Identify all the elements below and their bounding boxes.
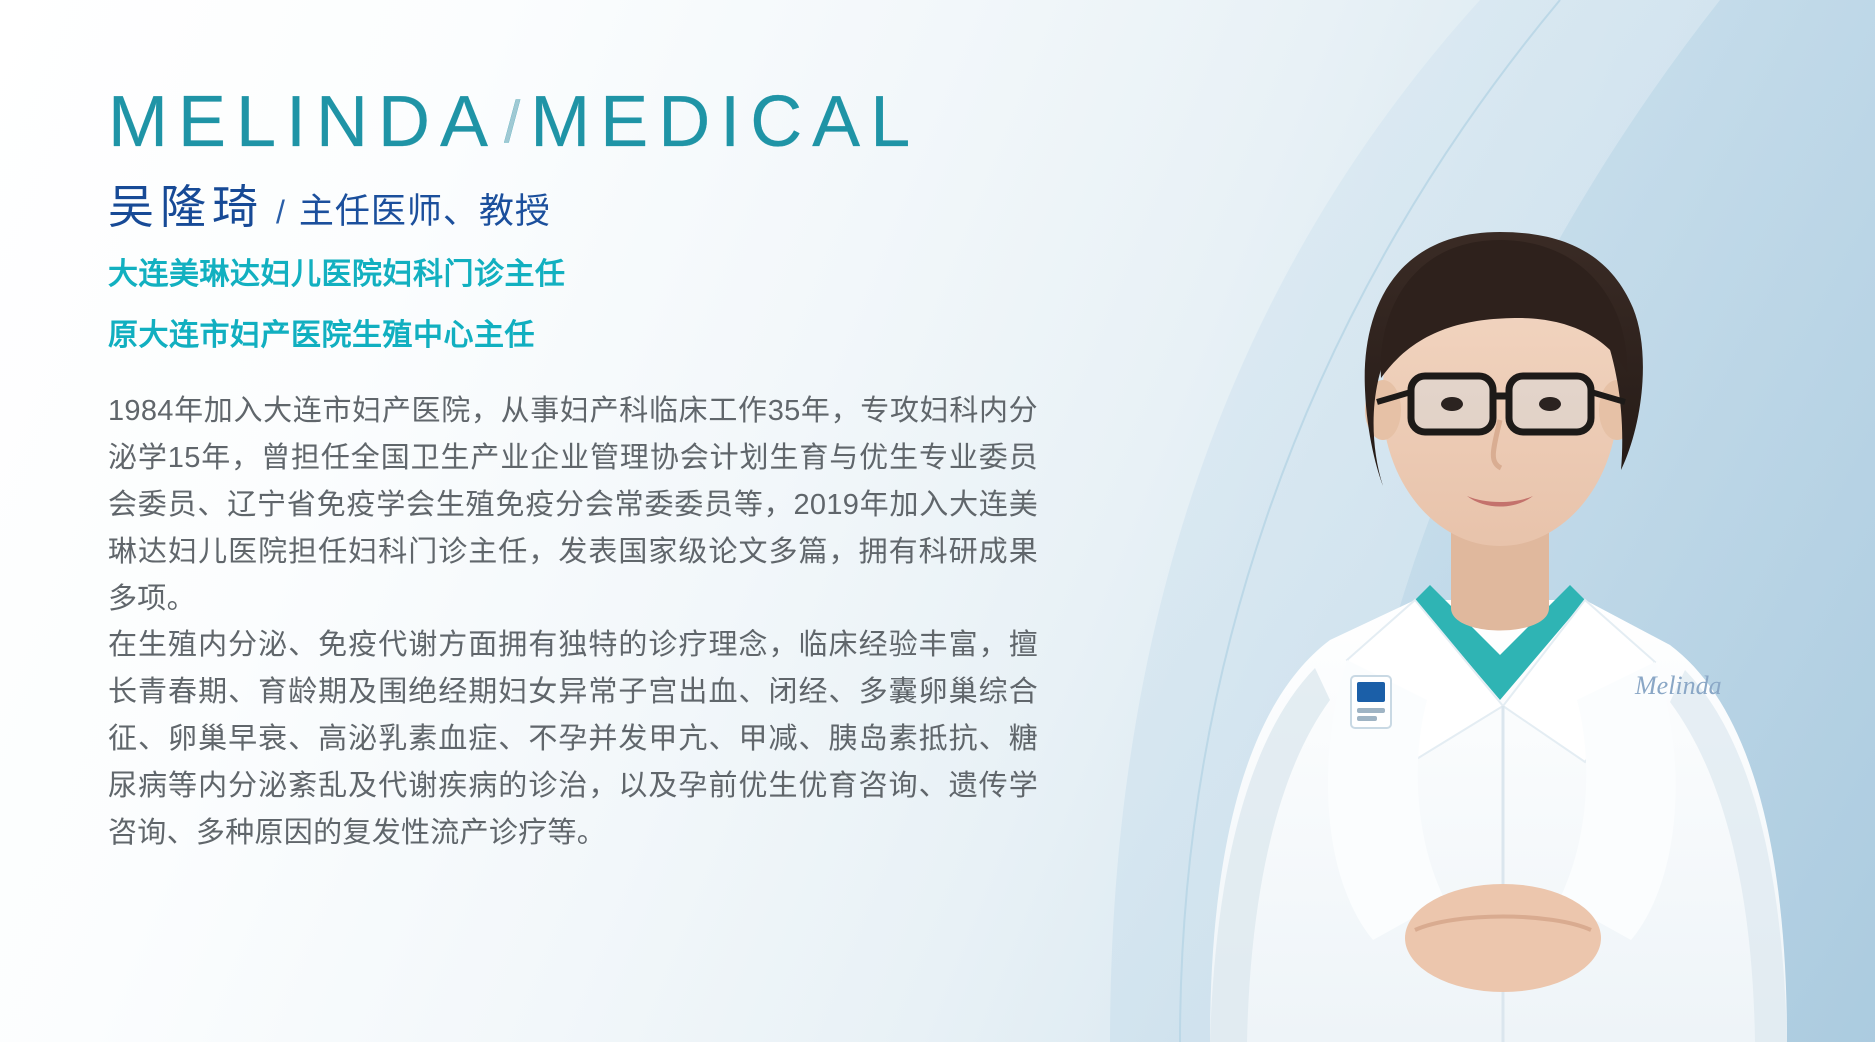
profile-text-column: MELINDA/MEDICAL 吴隆琦 / 主任医师、教授 大连美琳达妇儿医院妇… [108,0,1068,1042]
doctor-portrait-illustration: Melinda [1115,0,1875,1042]
doctor-name: 吴隆琦 [108,171,264,237]
biography: 1984年加入大连市妇产医院，从事妇产科临床工作35年，专攻妇科内分泌学15年，… [108,388,1038,858]
doctor-role: 主任医师、教授 [299,183,551,234]
doctor-profile-poster: Melinda MELINDA/MEDICAL 吴隆琦 / 主任医师、教授 大连… [0,0,1875,1042]
brand-title: MELINDA/MEDICAL [108,86,1068,159]
hospital-badge [1351,676,1391,728]
position-current: 大连美琳达妇儿医院妇科门诊主任 [108,253,1068,297]
position-former: 原大连市妇产医院生殖中心主任 [108,314,1068,358]
brand-title-right: MEDICAL [530,82,920,162]
biography-paragraph-2: 在生殖内分泌、免疫代谢方面拥有独特的诊疗理念，临床经验丰富，擅长青春期、育龄期及… [108,622,1038,857]
eye-left [1441,397,1463,411]
doctor-name-line: 吴隆琦 / 主任医师、教授 [108,171,1068,237]
brand-title-separator: / [498,90,530,155]
clasped-hands [1405,884,1601,992]
biography-paragraph-1: 1984年加入大连市妇产医院，从事妇产科临床工作35年，专攻妇科内分泌学15年，… [108,388,1038,623]
eye-right [1539,397,1561,411]
brand-title-left: MELINDA [108,82,498,162]
coat-brand-text: Melinda [1634,671,1722,700]
doctor-name-separator: / [276,194,285,231]
doctor-photo: Melinda [1115,0,1875,1042]
